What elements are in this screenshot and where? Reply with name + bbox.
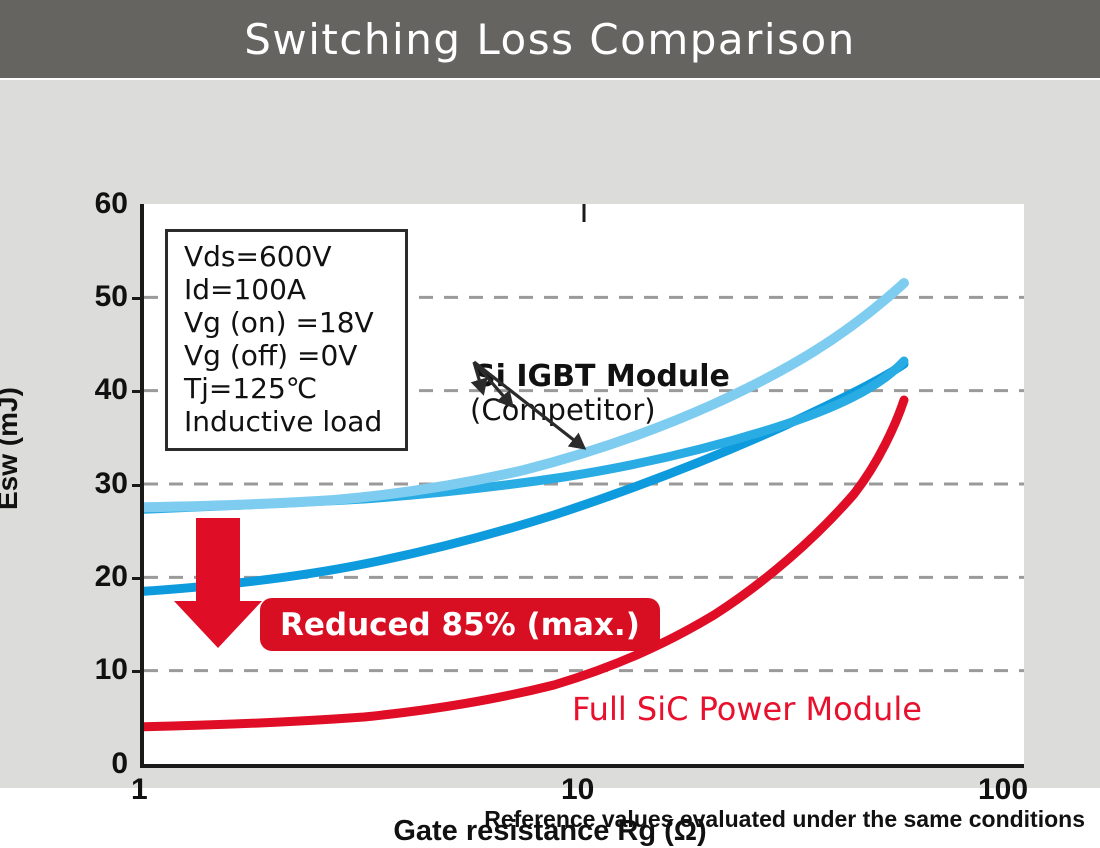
y-tick-label-0: 0 <box>58 749 128 779</box>
footer-note: Reference values evaluated under the sam… <box>0 806 1085 833</box>
x-tick-label-1: 1 <box>131 775 148 805</box>
y-tick-label-50: 50 <box>58 282 128 312</box>
y-tick-label-40: 40 <box>58 375 128 405</box>
condition-load-type: Inductive load <box>184 405 405 438</box>
label-si-igbt-module: Si IGBT Module <box>474 359 730 394</box>
condition-id: Id=100A <box>184 273 405 306</box>
label-competitor: (Competitor) <box>470 393 656 427</box>
condition-vds: Vds=600V <box>184 240 405 273</box>
conditions-box: Vds=600V Id=100A Vg (on) =18V Vg (off) =… <box>165 229 408 451</box>
chart-panel: 60 50 40 30 20 10 0 Esw (mJ) <box>0 80 1100 788</box>
x-tick-label-100: 100 <box>978 775 1028 805</box>
y-tick-label-60: 60 <box>58 189 128 219</box>
y-tick-label-30: 30 <box>58 469 128 499</box>
condition-tj: Tj=125℃ <box>184 372 405 405</box>
y-tick-label-20: 20 <box>58 562 128 592</box>
reduced-banner: Reduced 85% (max.) <box>260 598 660 651</box>
x-tick-label-10: 10 <box>561 775 594 805</box>
label-full-sic-module: Full SiC Power Module <box>572 690 922 728</box>
title-bar: Switching Loss Comparison <box>0 0 1100 78</box>
page-title: Switching Loss Comparison <box>244 15 856 64</box>
condition-vg-off: Vg (off) =0V <box>184 339 405 372</box>
reduced-banner-label: Reduced 85% (max.) <box>280 607 640 643</box>
y-axis-title: Esw (mJ) <box>0 387 24 510</box>
condition-vg-on: Vg (on) =18V <box>184 306 405 339</box>
y-tick-label-10: 10 <box>58 655 128 685</box>
